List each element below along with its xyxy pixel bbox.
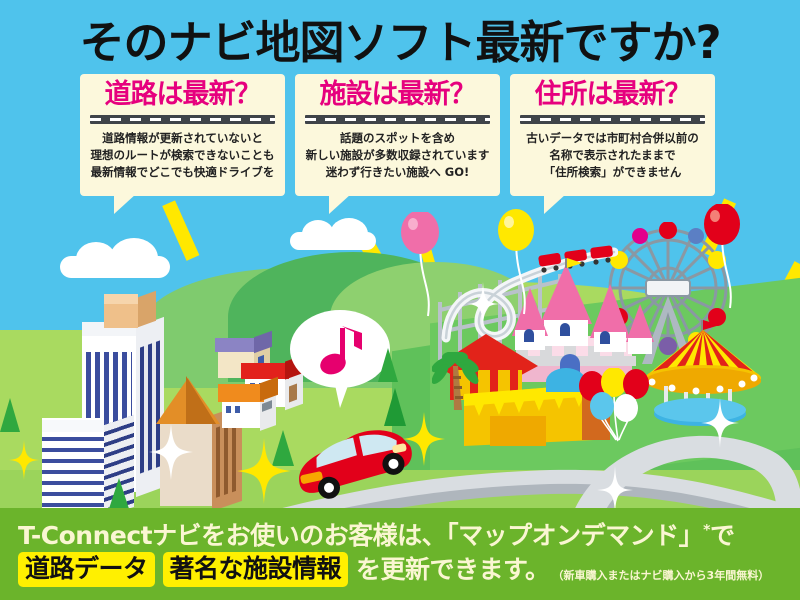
- tag-facility-info: 著名な施設情報: [163, 552, 349, 587]
- callout-address-title: 住所は最新？: [514, 80, 711, 110]
- bottom-banner: T-Connectナビをお使いのお客様は、「マップオンデマンド」*で 道路データ…: [0, 508, 800, 600]
- callout-facility: 施設は最新？ 話題のスポットを含め 新しい施設が多数収録されています 迷わず行き…: [295, 74, 500, 196]
- palm-tree: [432, 352, 482, 417]
- callout-address-body: 古いデータでは市町村合併以前の 名称で表示されたままで 「住所検索」ができません: [514, 130, 711, 181]
- callout-road-line1: 道路情報が更新されていないと: [84, 130, 281, 147]
- callout-address-line2: 名称で表示されたままで: [514, 147, 711, 164]
- callout-facility-title: 施設は最新？: [299, 80, 496, 110]
- callout-facility-line1: 話題のスポットを含め: [299, 130, 496, 147]
- banner-line-1-text: T-Connectナビをお使いのお客様は、「マップオンデマンド」: [18, 521, 703, 550]
- music-note-icon: [320, 324, 366, 376]
- red-car: [288, 418, 420, 509]
- callout-road: 道路は最新？ 道路情報が更新されていないと 理想のルートが検索できないことも 最…: [80, 74, 285, 196]
- banner-line-1-suffix: で: [710, 521, 735, 550]
- callout-road-line2: 理想のルートが検索できないことも: [84, 147, 281, 164]
- advertisement-poster: そのナビ地図ソフト最新ですか? 道路は最新？ 道路情報が更新されていないと 理想…: [0, 0, 800, 600]
- callout-facility-line3: 迷わず行きたい施設へ GO!: [299, 164, 496, 181]
- callout-road-line3: 最新情報でどこでも快適ドライブを: [84, 164, 281, 181]
- callout-facility-line2: 新しい施設が多数収録されています: [299, 147, 496, 164]
- banner-line-2-rest: を更新できます。: [356, 554, 550, 587]
- banner-asterisk: *: [703, 523, 710, 539]
- tag-road-data: 道路データ: [18, 552, 155, 587]
- callout-address: 住所は最新？ 古いデータでは市町村合併以前の 名称で表示されたままで 「住所検索…: [510, 74, 715, 196]
- callout-address-line1: 古いデータでは市町村合併以前の: [514, 130, 711, 147]
- callout-road-body: 道路情報が更新されていないと 理想のルートが検索できないことも 最新情報でどこで…: [84, 130, 281, 181]
- banner-line-1: T-Connectナビをお使いのお客様は、「マップオンデマンド」*で: [18, 516, 734, 552]
- road-divider-icon: [90, 115, 275, 124]
- callout-road-title: 道路は最新？: [84, 80, 281, 110]
- callout-address-line3: 「住所検索」ができません: [514, 164, 711, 181]
- road-divider-icon: [305, 115, 490, 124]
- banner-line-2: 道路データ 著名な施設情報 を更新できます。 （新車購入またはナビ購入から3年間…: [18, 552, 769, 587]
- callout-facility-body: 話題のスポットを含め 新しい施設が多数収録されています 迷わず行きたい施設へ G…: [299, 130, 496, 181]
- road-divider-icon: [520, 115, 705, 124]
- page-title: そのナビ地図ソフト最新ですか?: [0, 6, 800, 71]
- banner-fineprint: （新車購入またはナビ購入から3年間無料）: [553, 567, 770, 587]
